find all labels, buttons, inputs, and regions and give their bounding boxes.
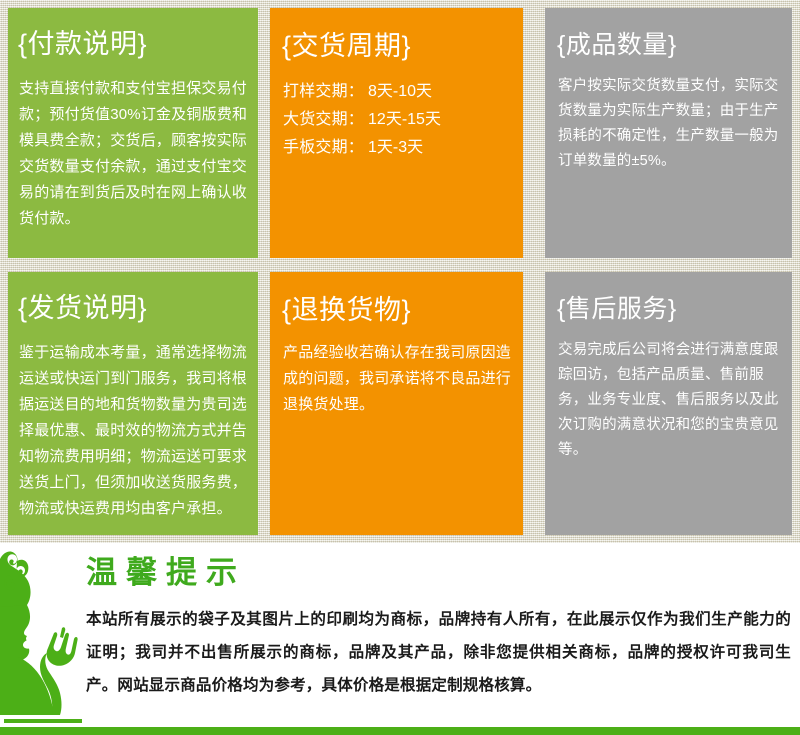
panel-shipping: {发货说明} 鉴于运输成本考量，通常选择物流运送或快运门到门服务，我司将根据运送… [8, 272, 258, 535]
lead-time-list: 打样交期：8天-10天 大货交期：12天-15天 手板交期：1天-3天 [283, 78, 441, 162]
lead-time-label: 手板交期： [283, 139, 364, 156]
notice-title: 温馨提示 [86, 556, 246, 590]
panel-shipping-title: {发货说明} [18, 294, 147, 324]
promo-info-page: {付款说明} 支持直接付款和支付宝担保交易付款；预付货值30%订金及铜版费和模具… [0, 0, 800, 735]
lead-time-label: 打样交期： [283, 83, 364, 100]
panel-quantity-body: 客户按实际交货数量支付，实际交货数量为实际生产数量；由于生产损耗的不确定性，生产… [558, 74, 782, 174]
lead-time-row: 打样交期：8天-10天 [283, 78, 441, 106]
panel-lead-time: {交货周期} 打样交期：8天-10天 大货交期：12天-15天 手板交期：1天-… [270, 8, 523, 258]
lead-time-value: 8天-10天 [368, 83, 432, 100]
panel-shipping-body: 鉴于运输成本考量，通常选择物流运送或快运门到门服务，我司将根据运送目的地和货物数… [19, 340, 251, 522]
lead-time-row: 大货交期：12天-15天 [283, 106, 441, 134]
lead-time-row: 手板交期：1天-3天 [283, 134, 441, 162]
panel-payment-title: {付款说明} [18, 30, 147, 60]
panel-quantity: {成品数量} 客户按实际交货数量支付，实际交货数量为实际生产数量；由于生产损耗的… [545, 8, 792, 258]
panel-payment-body: 支持直接付款和支付宝担保交易付款；预付货值30%订金及铜版费和模具费全款；交货后… [19, 76, 249, 232]
woman-silhouette-icon [0, 545, 86, 725]
lead-time-value: 12天-15天 [368, 111, 441, 128]
panel-returns: {退换货物} 产品经验收若确认存在我司原因造成的问题，我司承诺将不良品进行退换货… [270, 272, 523, 535]
lead-time-value: 1天-3天 [368, 139, 423, 156]
notice-text: 本站所有展示的袋子及其图片上的印刷均为商标，品牌持有人所有，在此展示仅作为我们生… [86, 603, 791, 702]
panel-grid: {付款说明} 支持直接付款和支付宝担保交易付款；预付货值30%订金及铜版费和模具… [0, 0, 800, 543]
lead-time-label: 大货交期： [283, 111, 364, 128]
panel-returns-title: {退换货物} [282, 296, 411, 326]
panel-returns-body: 产品经验收若确认存在我司原因造成的问题，我司承诺将不良品进行退换货处理。 [283, 340, 515, 418]
panel-after-sales: {售后服务} 交易完成后公司将会进行满意度跟踪回访，包括产品质量、售前服务，业务… [545, 272, 792, 535]
panel-after-sales-body: 交易完成后公司将会进行满意度跟踪回访，包括产品质量、售前服务，业务专业度、售后服… [558, 338, 782, 463]
panel-payment: {付款说明} 支持直接付款和支付宝担保交易付款；预付货值30%订金及铜版费和模具… [8, 8, 258, 258]
panel-after-sales-title: {售后服务} [557, 296, 677, 324]
notice-banner: 温馨提示 本站所有展示的袋子及其图片上的印刷均为商标，品牌持有人所有，在此展示仅… [0, 543, 800, 735]
panel-quantity-title: {成品数量} [557, 32, 677, 60]
panel-lead-time-title: {交货周期} [282, 32, 411, 62]
bottom-accent-bar [0, 727, 800, 735]
